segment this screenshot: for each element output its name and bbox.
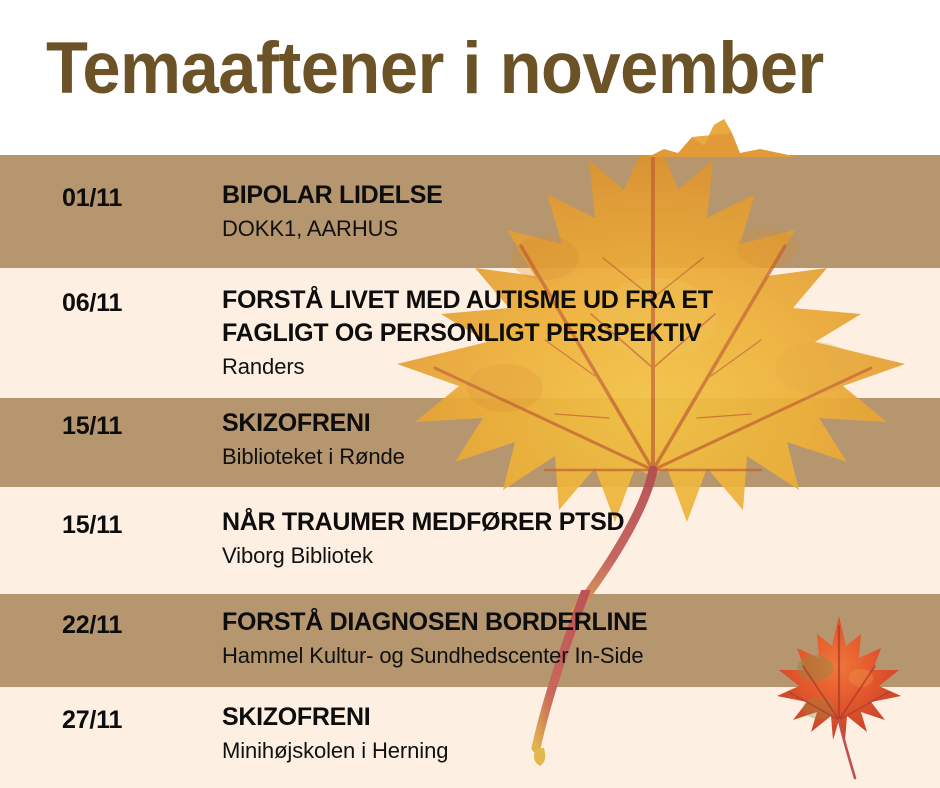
- page-title: Temaaftener i november: [46, 26, 824, 112]
- event-place: Minihøjskolen i Herning: [222, 736, 922, 766]
- event-place: Viborg Bibliotek: [222, 541, 922, 571]
- poster-canvas: Temaaftener i november 01/11 BIPOLAR LID…: [0, 0, 940, 788]
- event-title: FORSTÅ DIAGNOSEN BORDERLINE: [222, 606, 922, 639]
- event-row-6: 27/11 SKIZOFRENI Minihøjskolen i Herning: [0, 687, 940, 788]
- event-date: 01/11: [62, 184, 122, 213]
- event-row-3: 15/11 SKIZOFRENI Biblioteket i Rønde: [0, 398, 940, 487]
- event-row-4: 15/11 NÅR TRAUMER MEDFØRER PTSD Viborg B…: [0, 487, 940, 594]
- event-date: 15/11: [62, 511, 122, 540]
- event-info: BIPOLAR LIDELSE DOKK1, AARHUS: [222, 179, 922, 244]
- event-date: 15/11: [62, 412, 122, 441]
- event-date: 22/11: [62, 611, 122, 640]
- event-title: SKIZOFRENI: [222, 701, 922, 734]
- event-place: Biblioteket i Rønde: [222, 442, 922, 472]
- event-place: Randers: [222, 352, 922, 382]
- event-place: Hammel Kultur- og Sundhedscenter In-Side: [222, 641, 922, 671]
- event-info: SKIZOFRENI Biblioteket i Rønde: [222, 407, 922, 472]
- event-row-5: 22/11 FORSTÅ DIAGNOSEN BORDERLINE Hammel…: [0, 594, 940, 687]
- event-date: 27/11: [62, 706, 122, 735]
- event-row-1: 01/11 BIPOLAR LIDELSE DOKK1, AARHUS: [0, 155, 940, 268]
- event-info: SKIZOFRENI Minihøjskolen i Herning: [222, 701, 922, 766]
- event-place: DOKK1, AARHUS: [222, 214, 922, 244]
- leaf-tip-above-header: [648, 119, 798, 157]
- event-info: FORSTÅ LIVET MED AUTISME UD FRA ET FAGLI…: [222, 284, 922, 382]
- poster-header: Temaaftener i november: [0, 0, 940, 155]
- event-title: FORSTÅ LIVET MED AUTISME UD FRA ET: [222, 284, 922, 317]
- event-row-2: 06/11 FORSTÅ LIVET MED AUTISME UD FRA ET…: [0, 268, 940, 398]
- event-title: BIPOLAR LIDELSE: [222, 179, 922, 212]
- event-title: NÅR TRAUMER MEDFØRER PTSD: [222, 506, 922, 539]
- event-title-line2: FAGLIGT OG PERSONLIGT PERSPEKTIV: [222, 317, 922, 350]
- event-title: SKIZOFRENI: [222, 407, 922, 440]
- event-date: 06/11: [62, 289, 122, 318]
- event-info: FORSTÅ DIAGNOSEN BORDERLINE Hammel Kultu…: [222, 606, 922, 671]
- event-info: NÅR TRAUMER MEDFØRER PTSD Viborg Bibliot…: [222, 506, 922, 571]
